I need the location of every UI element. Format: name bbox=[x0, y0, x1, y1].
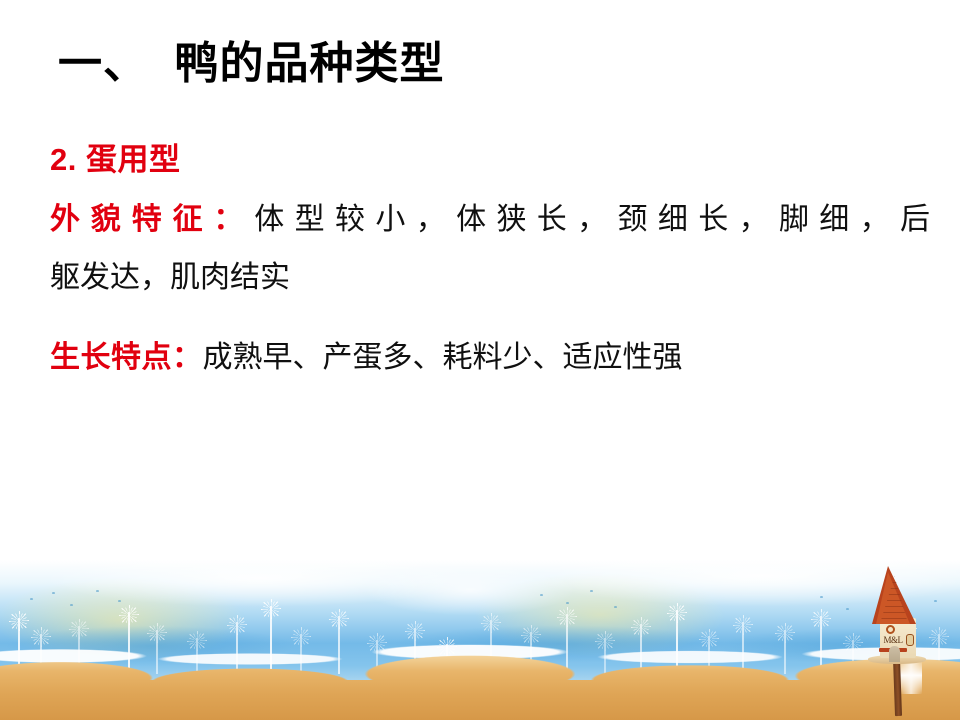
growth-text-line1: 成熟早、产蛋多、耗料少、适应性强 bbox=[203, 341, 683, 374]
beach-decoration-band: M&L bbox=[0, 560, 960, 720]
birdhouse-entrance-hole bbox=[886, 625, 895, 634]
water-speck bbox=[540, 594, 543, 596]
water-speck bbox=[70, 604, 73, 606]
growth-label: 生长特点： bbox=[50, 341, 203, 374]
birdhouse-window bbox=[906, 634, 914, 646]
appearance-text-line1: 体型较小，体狭长，颈细长，脚细，后 bbox=[254, 203, 930, 236]
feature-growth-line1: 生长特点：成熟早、产蛋多、耗料少、适应性强 bbox=[50, 332, 930, 384]
water-speck bbox=[934, 600, 937, 602]
feature-appearance-line2: 躯发达，肌肉结实 bbox=[50, 252, 930, 304]
water-speck bbox=[96, 590, 99, 592]
water-speck bbox=[614, 606, 617, 608]
water-speck bbox=[52, 592, 55, 594]
appearance-label: 外貌特征： bbox=[50, 203, 254, 236]
slide-body: 2. 蛋用型 外貌特征：体型较小，体狭长，颈细长，脚细，后 躯发达，肌肉结实 生… bbox=[50, 138, 930, 390]
birdhouse-icon: M&L bbox=[866, 562, 932, 720]
water-speck bbox=[820, 596, 823, 598]
sand-shore bbox=[0, 654, 960, 720]
sparkle-icon bbox=[900, 660, 922, 694]
page-title: 一、 鸭的品种类型 bbox=[58, 38, 444, 90]
water-speck bbox=[30, 598, 33, 600]
water-speck bbox=[118, 600, 121, 602]
water-speck bbox=[846, 608, 849, 610]
paragraph-spacer bbox=[50, 310, 930, 332]
appearance-text-line2: 躯发达，肌肉结实 bbox=[50, 261, 290, 294]
water-speck bbox=[590, 590, 593, 592]
section-subheading: 2. 蛋用型 bbox=[50, 138, 930, 182]
birdhouse-door bbox=[889, 646, 900, 662]
feature-appearance-line1: 外貌特征：体型较小，体狭长，颈细长，脚细，后 bbox=[50, 194, 930, 246]
slide-canvas: 一、 鸭的品种类型 2. 蛋用型 外貌特征：体型较小，体狭长，颈细长，脚细，后 … bbox=[0, 0, 960, 720]
water-speck bbox=[566, 602, 569, 604]
